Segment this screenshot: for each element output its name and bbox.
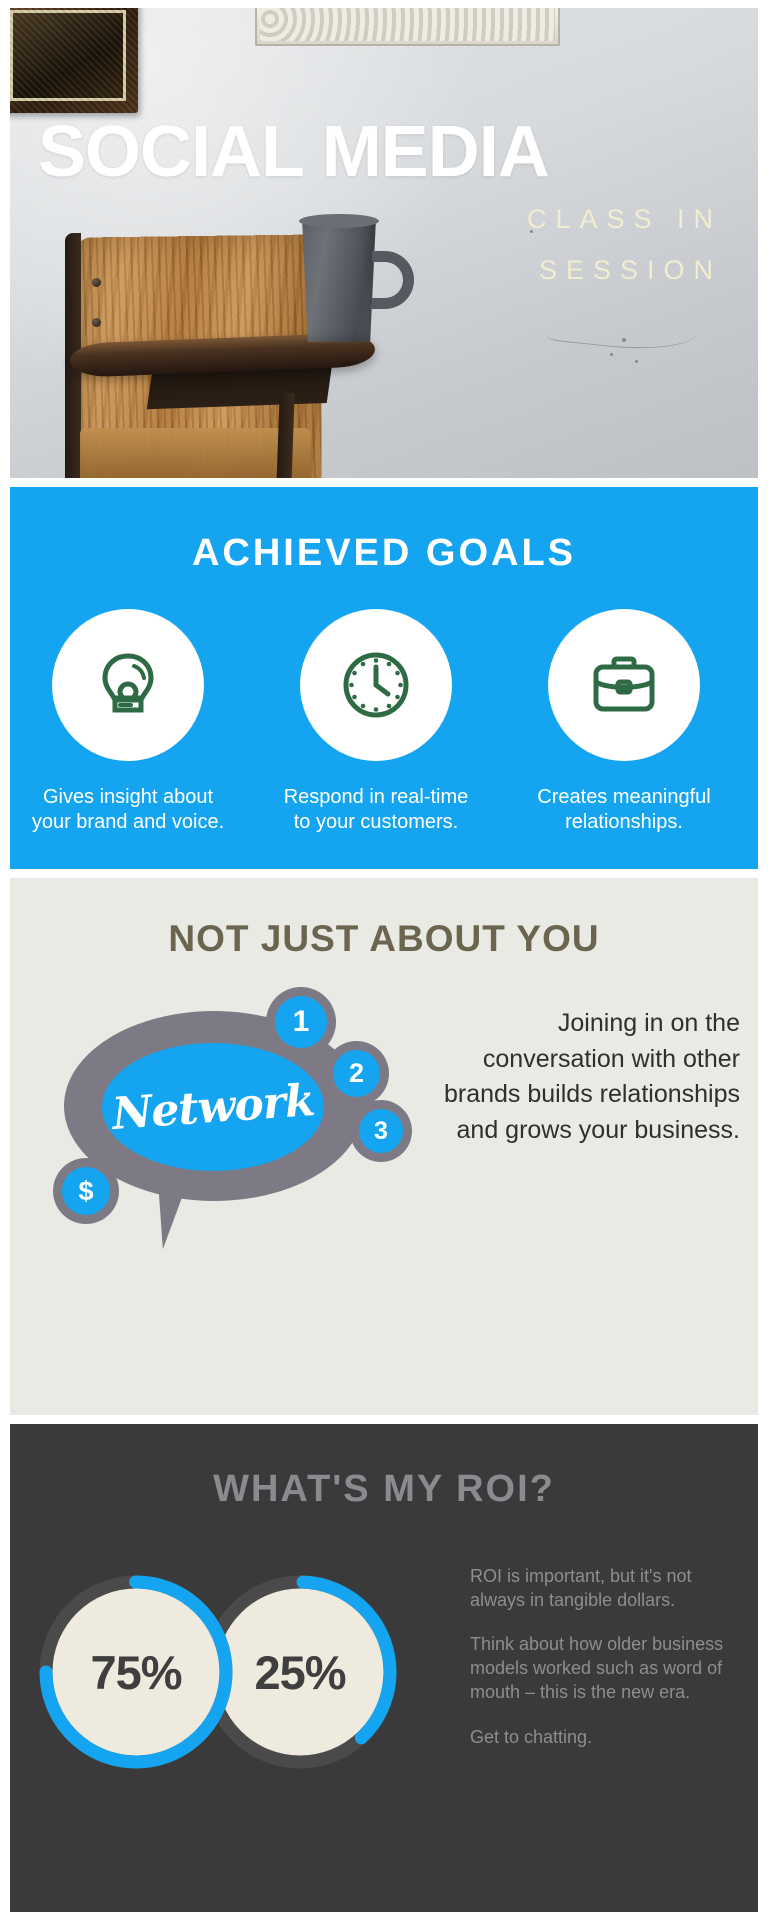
goal-item-insight: Gives insight about your brand and voice… [28,609,228,835]
network-badge-dollar: $ [62,1167,110,1215]
briefcase-icon [581,642,667,728]
network-bubble-graphic: 1 2 3 $ Network [22,993,422,1293]
network-body-text: Joining in on the conversation with othe… [440,1006,740,1148]
roi-paragraph-3: Get to chatting. [470,1725,738,1749]
roi-body-text: ROI is important, but it's not always in… [470,1564,738,1749]
roi-paragraph-1: ROI is important, but it's not always in… [470,1564,738,1612]
lightbulb-icon [85,642,171,728]
wall-speck [635,360,638,363]
chair-rivet [92,318,101,327]
achieved-goals-section: ACHIEVED GOALS Gives insight about your … [10,487,758,869]
goal-caption: Creates meaningful relationships. [524,785,724,835]
network-word: Network [110,1075,316,1140]
goal-item-realtime: Respond in real-time to your customers. [276,609,476,835]
roi-section: WHAT'S MY ROI? 75% 25% ROI is [10,1424,758,1912]
hero-photo-section: SOCIAL MEDIA CLASS IN SESSION [10,8,758,478]
chair-rivet [92,278,101,287]
chair-seat [80,428,310,478]
goal-caption: Respond in real-time to your customers. [276,785,476,835]
network-badge-3: 3 [359,1109,403,1153]
clock-icon [333,642,419,728]
donut-chart-75: 75% [36,1572,236,1772]
not-just-about-you-section: NOT JUST ABOUT YOU 1 2 3 $ Network Joini… [10,878,758,1415]
achieved-goals-heading: ACHIEVED GOALS [10,532,758,575]
goal-icon-circle [52,609,204,761]
hero-subtitle-line-2: SESSION [539,255,722,286]
goal-item-relationships: Creates meaningful relationships. [524,609,724,835]
infographic-page: SOCIAL MEDIA CLASS IN SESSION ACHIEVED G… [0,0,768,1920]
donut-label-75: 75% [36,1572,236,1772]
coffee-mug-rim [299,214,379,228]
chair-leg [276,393,294,478]
goal-icon-circle [548,609,700,761]
network-badge-2: 2 [333,1050,380,1097]
roi-heading: WHAT'S MY ROI? [10,1468,758,1511]
page-title: SOCIAL MEDIA [38,116,549,188]
wall-speck [610,353,613,356]
network-badge-1: 1 [275,996,327,1048]
goal-icon-circle [300,609,452,761]
roi-paragraph-2: Think about how older business models wo… [470,1632,738,1704]
picture-frame [10,8,138,113]
not-just-about-you-heading: NOT JUST ABOUT YOU [10,918,758,960]
wall-hanging-art [255,8,560,46]
speech-bubble-tail [157,1167,200,1249]
wall-speck [622,338,626,342]
coffee-mug [298,220,380,342]
network-inner-ellipse: Network [102,1043,324,1171]
goal-caption: Gives insight about your brand and voice… [28,785,228,835]
hero-subtitle-line-1: CLASS IN [527,204,722,235]
roi-donut-charts: 75% 25% [28,1554,388,1804]
